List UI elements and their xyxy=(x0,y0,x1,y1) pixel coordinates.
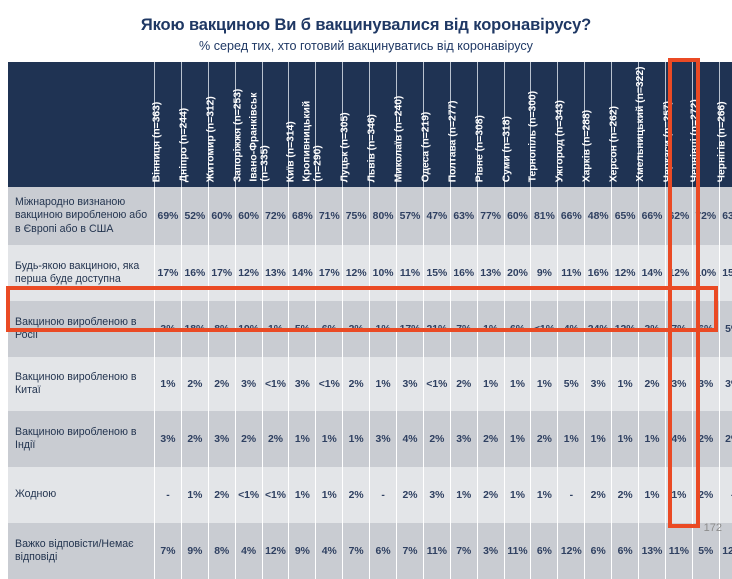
data-cell: 65% xyxy=(612,187,639,245)
table-corner-cell xyxy=(8,62,155,187)
data-cell: 1% xyxy=(289,411,316,467)
data-cell: 5% xyxy=(289,301,316,357)
column-header-label: Рівне (n=308) xyxy=(475,115,485,182)
data-cell: 2% xyxy=(639,357,666,411)
column-header-label: Запоріжжя (n=253) xyxy=(233,88,243,182)
data-cell: 60% xyxy=(208,187,235,245)
data-cell: 1% xyxy=(181,467,208,523)
data-cell: 1% xyxy=(585,411,612,467)
data-cell: 5% xyxy=(558,357,585,411)
data-cell: 3% xyxy=(665,357,692,411)
column-header-label: Черкаси (n=257) xyxy=(664,101,674,182)
data-cell: 15% xyxy=(719,245,732,301)
data-cell: 17% xyxy=(316,245,343,301)
data-cell: 13% xyxy=(262,245,289,301)
data-cell: 2% xyxy=(397,467,424,523)
data-cell: 3% xyxy=(397,357,424,411)
data-cell: 7% xyxy=(450,523,477,579)
data-cell: 1% xyxy=(450,467,477,523)
data-cell: 77% xyxy=(477,187,504,245)
data-cell: 2% xyxy=(423,411,450,467)
data-cell: 1% xyxy=(477,301,504,357)
data-cell: 80% xyxy=(370,187,397,245)
data-cell: 5% xyxy=(719,301,732,357)
data-cell: 6% xyxy=(585,523,612,579)
data-cell: 81% xyxy=(531,187,558,245)
data-cell: 4% xyxy=(665,411,692,467)
data-cell: 6% xyxy=(531,523,558,579)
column-header-label: Миколаїв (n=240) xyxy=(395,95,405,182)
data-cell: 7% xyxy=(155,523,182,579)
column-header-label: Івано-Франківськ (n=335) xyxy=(249,64,271,182)
data-cell: 12% xyxy=(558,523,585,579)
data-cell: 2% xyxy=(343,467,370,523)
data-cell: 2% xyxy=(181,411,208,467)
data-cell: - xyxy=(370,467,397,523)
survey-table: Вінниця (n=363) Дніпро (n=244) Житомир (… xyxy=(8,62,732,579)
data-cell: 3% xyxy=(155,301,182,357)
data-cell: 1% xyxy=(316,467,343,523)
data-cell: <1% xyxy=(316,357,343,411)
data-cell: 17% xyxy=(208,245,235,301)
column-header-label: Львів (n=346) xyxy=(368,114,378,182)
column-header-label: Чернігів (n=266) xyxy=(717,101,727,182)
data-cell: 7% xyxy=(343,523,370,579)
data-cell: <1% xyxy=(262,357,289,411)
column-header-city: Полтава (n=277) xyxy=(450,62,477,187)
column-header-label: Суми (n=318) xyxy=(502,116,512,182)
data-cell: 2% xyxy=(719,411,732,467)
data-cell: 3% xyxy=(289,357,316,411)
data-cell: 11% xyxy=(558,245,585,301)
data-cell: 66% xyxy=(558,187,585,245)
data-cell: 12% xyxy=(343,245,370,301)
data-cell: 3% xyxy=(450,411,477,467)
data-cell: 1% xyxy=(504,467,531,523)
table-row: Вакциною виробленою в Китаї 1% 2% 2% 3% … xyxy=(8,357,732,411)
column-header-city: Луцьк (n=305) xyxy=(343,62,370,187)
column-header-city: Черкаси (n=257) xyxy=(665,62,692,187)
column-header-label: Луцьк (n=305) xyxy=(341,112,351,182)
column-header-city: Харків (n=288) xyxy=(585,62,612,187)
data-cell: 2% xyxy=(692,467,719,523)
table-row-highlighted: Вакциною виробленою в Росії 3% 18% 8% 19… xyxy=(8,301,732,357)
data-cell: 20% xyxy=(504,245,531,301)
data-cell: 1% xyxy=(665,467,692,523)
data-cell: <1% xyxy=(262,467,289,523)
data-cell: 1% xyxy=(504,357,531,411)
column-header-city: Рівне (n=308) xyxy=(477,62,504,187)
data-cell: 7% xyxy=(397,523,424,579)
table-row: Вакциною виробленою в Індії 3% 2% 3% 2% … xyxy=(8,411,732,467)
data-cell: 63% xyxy=(450,187,477,245)
column-header-city: Житомир (n=312) xyxy=(208,62,235,187)
data-cell: - xyxy=(558,467,585,523)
data-cell: 4% xyxy=(397,411,424,467)
data-cell: 2% xyxy=(531,411,558,467)
data-cell: 12% xyxy=(612,245,639,301)
data-cell: 1% xyxy=(262,301,289,357)
data-cell: - xyxy=(719,467,732,523)
data-cell: <1% xyxy=(235,467,262,523)
data-cell: 6% xyxy=(612,523,639,579)
data-cell: 21% xyxy=(423,301,450,357)
data-cell: 1% xyxy=(477,357,504,411)
data-cell: 4% xyxy=(235,523,262,579)
data-cell: 2% xyxy=(343,301,370,357)
column-header-city: Кропивницький (n=290) xyxy=(316,62,343,187)
data-cell: 3% xyxy=(155,411,182,467)
row-label: Вакциною виробленою в Індії xyxy=(8,411,155,467)
data-cell: 2% xyxy=(235,411,262,467)
data-cell: 1% xyxy=(370,357,397,411)
page-number: 172 xyxy=(704,522,722,534)
data-cell: 57% xyxy=(397,187,424,245)
data-cell: 2% xyxy=(477,411,504,467)
column-header-label: Полтава (n=277) xyxy=(448,100,458,182)
data-cell: 9% xyxy=(181,523,208,579)
data-cell: 9% xyxy=(531,245,558,301)
column-header-city: Чернівці (n=272) xyxy=(692,62,719,187)
data-cell: 9% xyxy=(289,523,316,579)
column-header-city: Миколаїв (n=240) xyxy=(397,62,424,187)
data-cell: 75% xyxy=(343,187,370,245)
data-cell: 1% xyxy=(316,411,343,467)
data-cell: 52% xyxy=(181,187,208,245)
data-cell: 14% xyxy=(639,245,666,301)
data-cell: 12% xyxy=(235,245,262,301)
column-header-city: Хмельницький (n=322) xyxy=(639,62,666,187)
row-label: Будь-якою вакциною, яка перша буде досту… xyxy=(8,245,155,301)
data-cell: 2% xyxy=(208,467,235,523)
data-cell: 6% xyxy=(370,523,397,579)
data-cell: 1% xyxy=(370,301,397,357)
column-header-city: Дніпро (n=244) xyxy=(181,62,208,187)
data-cell: 1% xyxy=(343,411,370,467)
column-header-label: Чернівці (n=272) xyxy=(690,99,700,182)
data-cell: 2% xyxy=(450,357,477,411)
data-cell: 1% xyxy=(612,411,639,467)
data-cell: 24% xyxy=(585,301,612,357)
data-cell: 1% xyxy=(531,357,558,411)
data-cell: - xyxy=(155,467,182,523)
data-cell: 1% xyxy=(639,467,666,523)
column-header-city: Львів (n=346) xyxy=(370,62,397,187)
data-cell: 60% xyxy=(504,187,531,245)
data-cell: 63% xyxy=(719,187,732,245)
data-cell: 2% xyxy=(692,411,719,467)
data-cell: 2% xyxy=(477,467,504,523)
page-subtitle: % серед тих, хто готовий вакцинуватись в… xyxy=(0,34,732,54)
data-cell: 7% xyxy=(450,301,477,357)
data-cell: 48% xyxy=(585,187,612,245)
data-cell: 3% xyxy=(477,523,504,579)
data-cell: 1% xyxy=(639,411,666,467)
data-cell: 1% xyxy=(504,411,531,467)
data-cell: 16% xyxy=(585,245,612,301)
data-cell: 7% xyxy=(665,301,692,357)
data-cell: 16% xyxy=(450,245,477,301)
survey-table-wrapper: Вінниця (n=363) Дніпро (n=244) Житомир (… xyxy=(8,62,724,579)
data-cell: 13% xyxy=(639,523,666,579)
column-header-label: Тернопіль (n=300) xyxy=(529,91,539,182)
slide-page: Якою вакциною Ви б вакцинувалися від кор… xyxy=(0,0,732,540)
data-cell: <1% xyxy=(423,357,450,411)
data-cell: 3% xyxy=(719,357,732,411)
data-cell: 66% xyxy=(639,187,666,245)
column-header-label: Київ (n=314) xyxy=(287,121,297,182)
data-cell: 10% xyxy=(370,245,397,301)
data-cell: 72% xyxy=(262,187,289,245)
data-cell: 3% xyxy=(423,467,450,523)
data-cell: 71% xyxy=(316,187,343,245)
data-cell: 3% xyxy=(585,357,612,411)
row-label: Важко відповісти/Немає відповіді xyxy=(8,523,155,579)
column-header-city: Вінниця (n=363) xyxy=(155,62,182,187)
data-cell: 1% xyxy=(155,357,182,411)
data-cell: 2% xyxy=(262,411,289,467)
data-cell: 15% xyxy=(423,245,450,301)
data-cell: 3% xyxy=(692,357,719,411)
data-cell: 17% xyxy=(397,301,424,357)
table-row: Важко відповісти/Немає відповіді 7% 9% 8… xyxy=(8,523,732,579)
data-cell: 1% xyxy=(531,467,558,523)
column-header-label: Хмельницький (n=322) xyxy=(636,64,647,182)
data-cell: 8% xyxy=(208,523,235,579)
column-header-label: Ужгород (n=343) xyxy=(556,100,566,182)
data-cell: 2% xyxy=(208,357,235,411)
column-header-city: Ужгород (n=343) xyxy=(558,62,585,187)
data-cell: 17% xyxy=(155,245,182,301)
data-cell: 1% xyxy=(612,357,639,411)
data-cell: 2% xyxy=(585,467,612,523)
table-header-row: Вінниця (n=363) Дніпро (n=244) Житомир (… xyxy=(8,62,732,187)
data-cell: 6% xyxy=(692,301,719,357)
data-cell: 2% xyxy=(181,357,208,411)
column-header-label: Кропивницький (n=290) xyxy=(303,64,325,182)
row-label: Жодною xyxy=(8,467,155,523)
column-header-label: Житомир (n=312) xyxy=(206,96,216,182)
data-cell: 13% xyxy=(477,245,504,301)
data-cell: 2% xyxy=(343,357,370,411)
data-cell: 11% xyxy=(397,245,424,301)
data-cell: 3% xyxy=(370,411,397,467)
data-cell: 10% xyxy=(692,245,719,301)
column-header-label: Вінниця (n=363) xyxy=(153,101,163,182)
data-cell: 47% xyxy=(423,187,450,245)
data-cell: 62% xyxy=(665,187,692,245)
page-title: Якою вакциною Ви б вакцинувалися від кор… xyxy=(0,0,732,34)
column-header-city: Чернігів (n=266) xyxy=(719,62,732,187)
data-cell: 12% xyxy=(262,523,289,579)
data-cell: 12% xyxy=(612,301,639,357)
data-cell: 18% xyxy=(181,301,208,357)
column-header-label: Харків (n=288) xyxy=(583,110,593,182)
table-row: Міжнародно визнаною вакциною виробленою … xyxy=(8,187,732,245)
table-header: Вінниця (n=363) Дніпро (n=244) Житомир (… xyxy=(8,62,732,187)
data-cell: 19% xyxy=(235,301,262,357)
table-row: Будь-якою вакциною, яка перша буде досту… xyxy=(8,245,732,301)
data-cell: 2% xyxy=(612,467,639,523)
row-label: Вакциною виробленою в Росії xyxy=(8,301,155,357)
data-cell: 6% xyxy=(316,301,343,357)
table-body: Міжнародно визнаною вакциною виробленою … xyxy=(8,187,732,579)
column-header-label: Херсон (n=262) xyxy=(610,106,620,182)
data-cell: 11% xyxy=(504,523,531,579)
table-row: Жодною - 1% 2% <1% <1% 1% 1% 2% - 2% 3% … xyxy=(8,467,732,523)
data-cell: 3% xyxy=(639,301,666,357)
data-cell: 11% xyxy=(423,523,450,579)
data-cell: 60% xyxy=(235,187,262,245)
row-label: Міжнародно визнаною вакциною виробленою … xyxy=(8,187,155,245)
column-header-city: Одеса (n=219) xyxy=(423,62,450,187)
data-cell: 16% xyxy=(181,245,208,301)
data-cell: <1% xyxy=(531,301,558,357)
column-header-label: Одеса (n=219) xyxy=(422,111,432,182)
data-cell: 68% xyxy=(289,187,316,245)
data-cell: 8% xyxy=(208,301,235,357)
data-cell: 4% xyxy=(316,523,343,579)
data-cell: 12% xyxy=(665,245,692,301)
data-cell: 1% xyxy=(289,467,316,523)
data-cell: 11% xyxy=(665,523,692,579)
data-cell: 4% xyxy=(558,301,585,357)
data-cell: 72% xyxy=(692,187,719,245)
column-header-label: Дніпро (n=244) xyxy=(180,108,190,182)
data-cell: 14% xyxy=(289,245,316,301)
data-cell: 1% xyxy=(558,411,585,467)
data-cell: 3% xyxy=(235,357,262,411)
row-label: Вакциною виробленою в Китаї xyxy=(8,357,155,411)
data-cell: 69% xyxy=(155,187,182,245)
data-cell: 3% xyxy=(208,411,235,467)
data-cell: 6% xyxy=(504,301,531,357)
